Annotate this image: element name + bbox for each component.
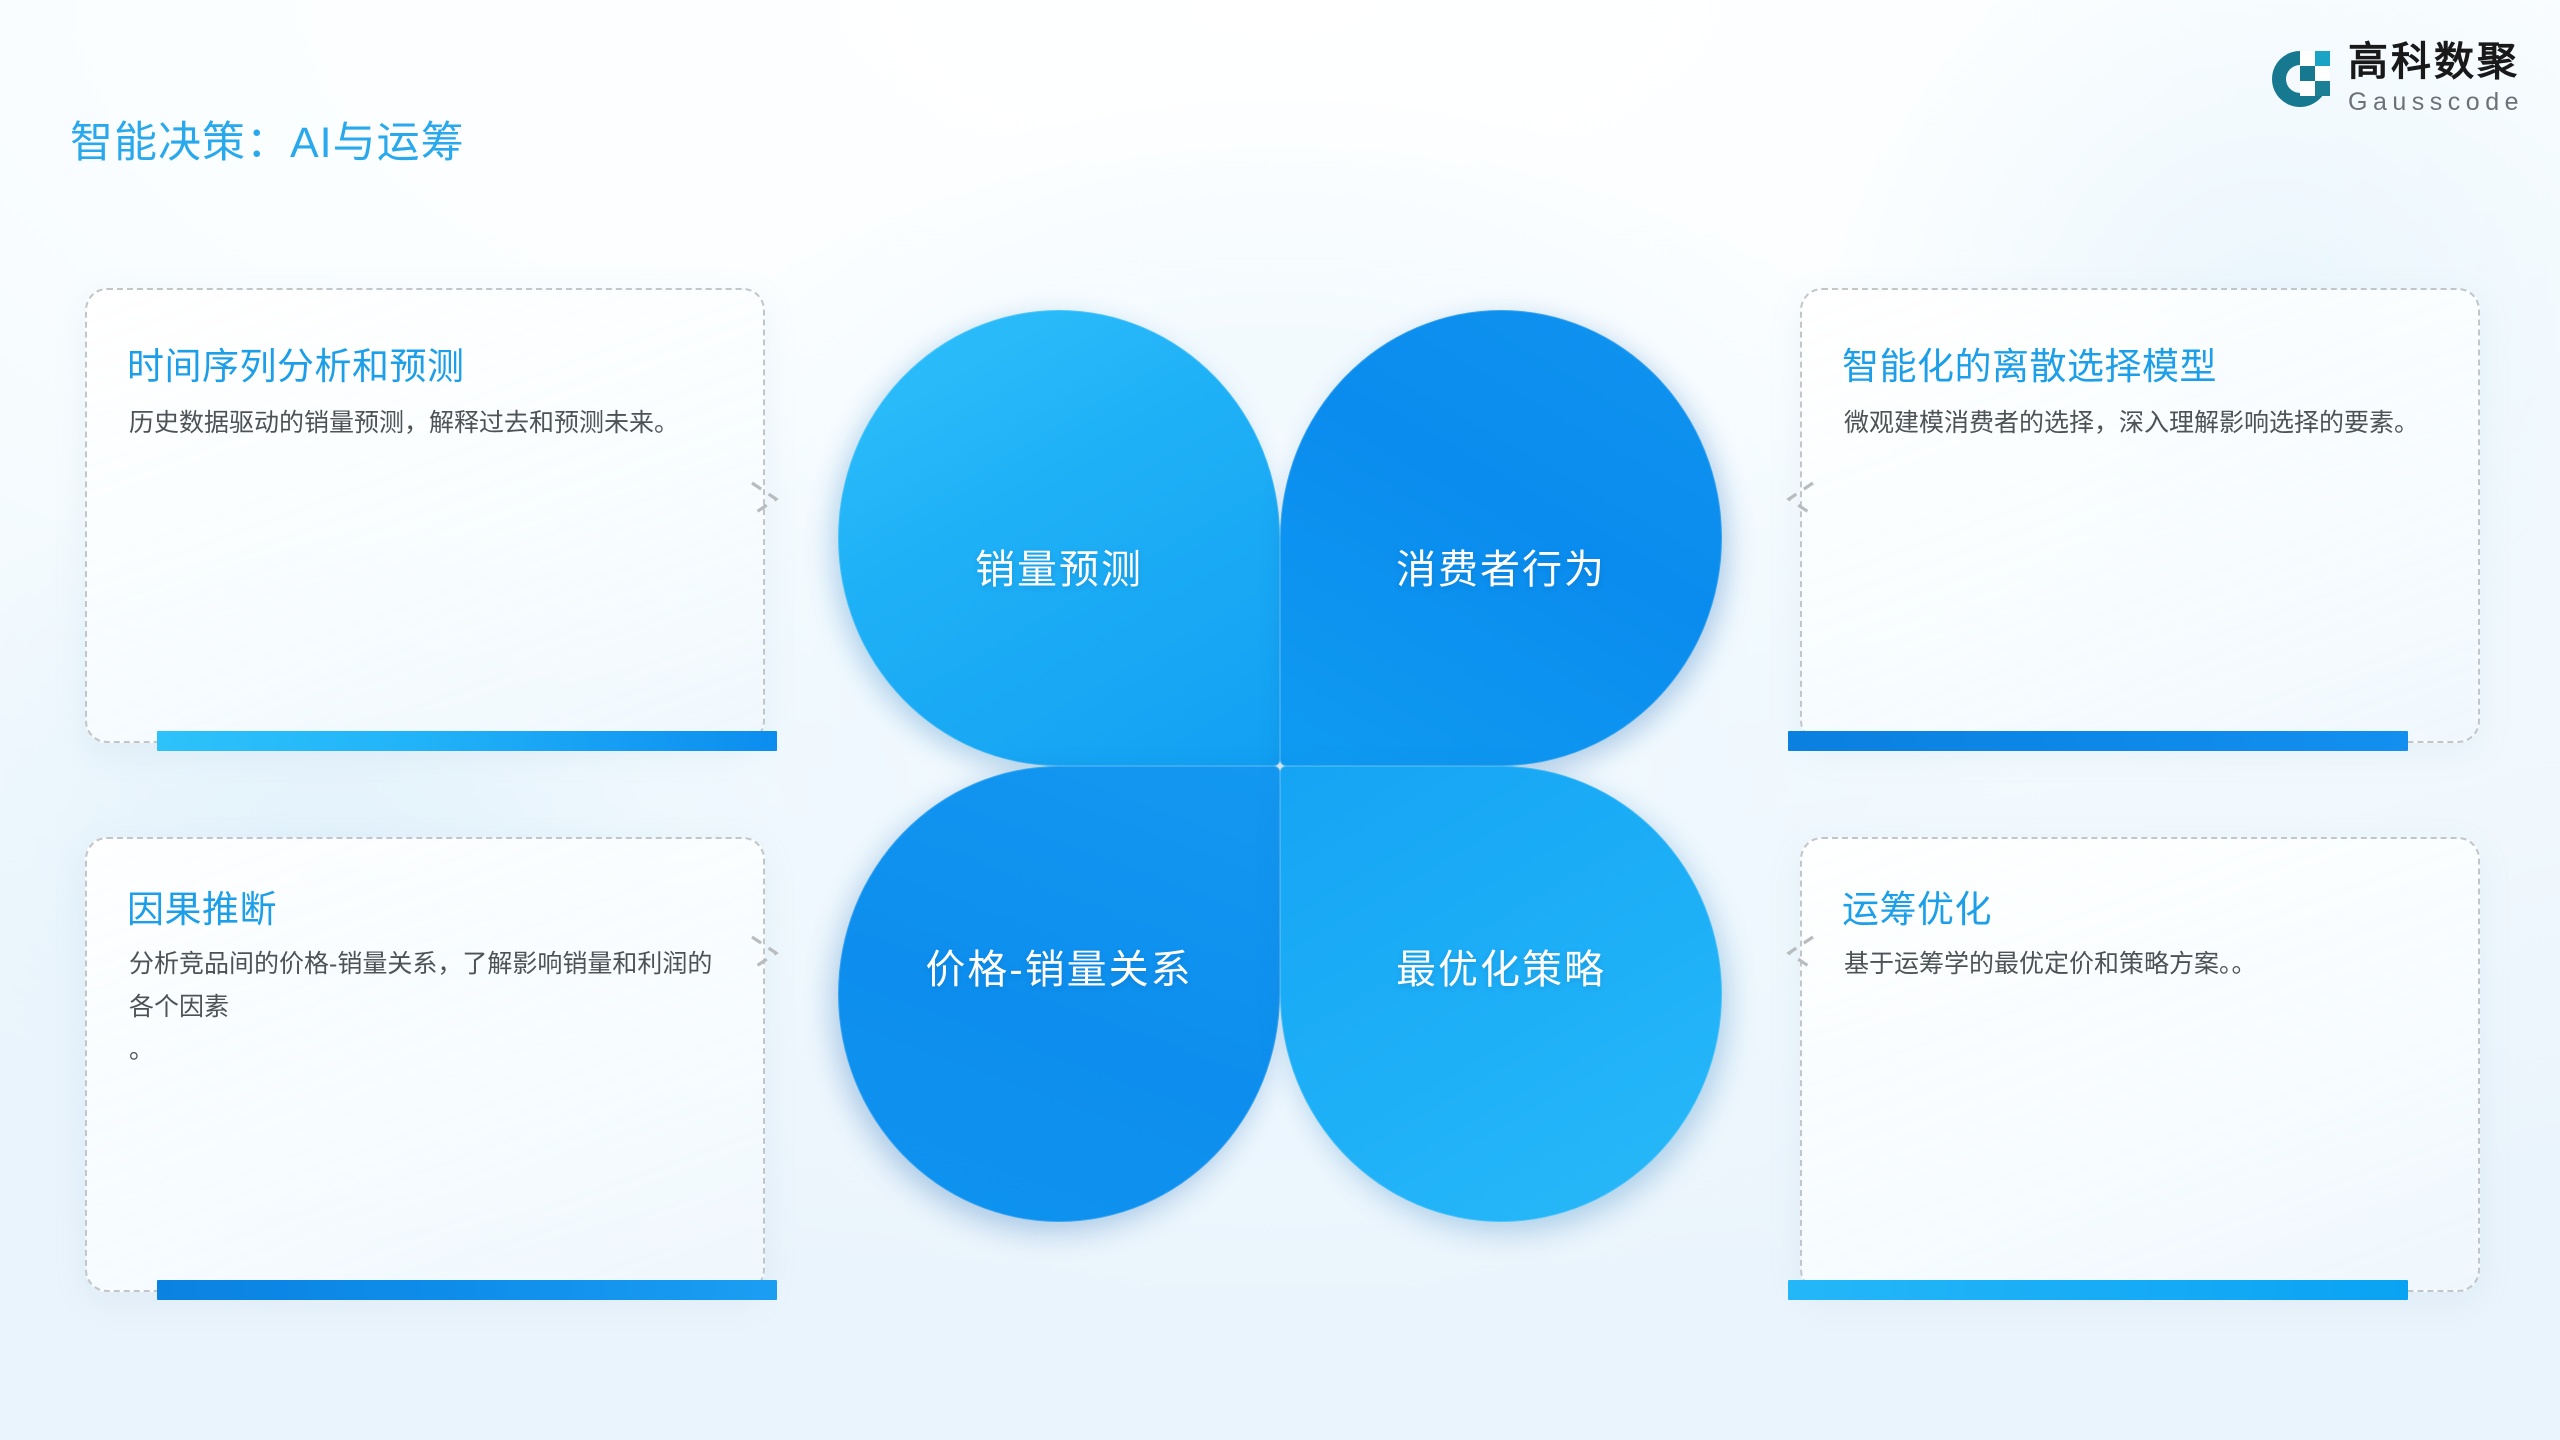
logo-name-cn: 高科数聚 <box>2348 42 2524 82</box>
petal-label: 价格-销量关系 <box>925 937 1192 995</box>
petal-price-volume[interactable]: 价格-销量关系 <box>838 766 1280 1222</box>
card-title: 智能化的离散选择模型 <box>1842 336 2444 390</box>
petal-label: 最优化策略 <box>1396 937 1606 995</box>
logo-wordmark: 高科数聚 Gausscode <box>2348 42 2524 115</box>
card-accent-bar <box>157 731 777 751</box>
chevron-right-icon <box>738 473 790 525</box>
card-causal-inference[interactable]: 因果推断 分析竞品间的价格-销量关系，了解影响销量和利润的各个因素 。 <box>85 837 765 1292</box>
card-body: 分析竞品间的价格-销量关系，了解影响销量和利润的各个因素 。 <box>129 943 723 1072</box>
chevron-left-icon <box>1775 927 1827 979</box>
card-accent-bar <box>1788 1280 2408 1300</box>
card-accent-bar <box>157 1280 777 1300</box>
card-body: 微观建模消费者的选择，深入理解影响选择的要素。 <box>1844 402 2438 445</box>
card-title: 运筹优化 <box>1842 879 2444 933</box>
chevron-left-icon <box>1775 473 1827 525</box>
card-title: 因果推断 <box>127 879 729 933</box>
logo-name-en: Gausscode <box>2348 90 2524 115</box>
gausscode-logo-mark-icon <box>2270 49 2330 109</box>
petal-label: 销量预测 <box>975 537 1143 595</box>
card-accent-bar <box>1788 731 2408 751</box>
brand-logo: 高科数聚 Gausscode <box>2270 42 2524 115</box>
card-body: 基于运筹学的最优定价和策略方案。。 <box>1844 943 2438 986</box>
petal-sales-forecast[interactable]: 销量预测 <box>838 310 1280 766</box>
card-body: 历史数据驱动的销量预测，解释过去和预测未来。 <box>129 402 723 445</box>
card-discrete-choice[interactable]: 智能化的离散选择模型 微观建模消费者的选择，深入理解影响选择的要素。 <box>1800 288 2480 743</box>
petal-label: 消费者行为 <box>1396 537 1606 595</box>
chevron-right-icon <box>738 927 790 979</box>
four-petal-diagram: 销量预测 消费者行为 价格-销量关系 最优化策略 <box>838 310 1722 1222</box>
page-title: 智能决策：AI与运筹 <box>70 108 465 170</box>
card-title: 时间序列分析和预测 <box>127 336 729 390</box>
petal-consumer-behavior[interactable]: 消费者行为 <box>1280 310 1722 766</box>
card-operations-research[interactable]: 运筹优化 基于运筹学的最优定价和策略方案。。 <box>1800 837 2480 1292</box>
petal-optimal-strategy[interactable]: 最优化策略 <box>1280 766 1722 1222</box>
card-time-series[interactable]: 时间序列分析和预测 历史数据驱动的销量预测，解释过去和预测未来。 <box>85 288 765 743</box>
